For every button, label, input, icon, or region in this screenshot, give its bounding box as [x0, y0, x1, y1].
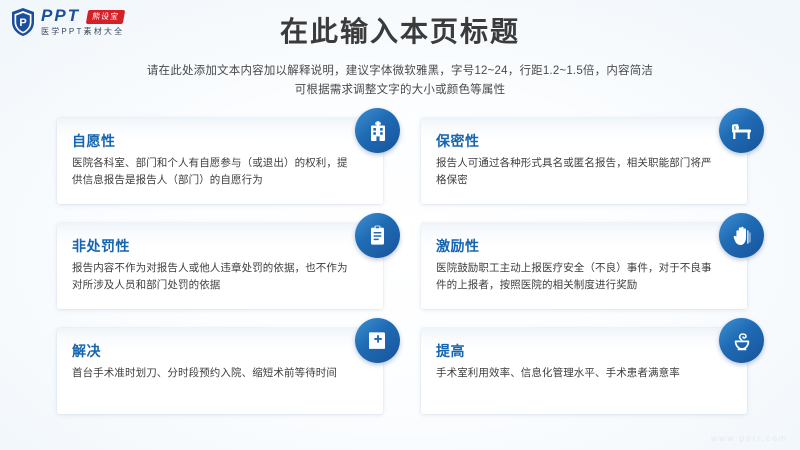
hospital-bed-icon — [719, 108, 764, 153]
feature-card[interactable]: 保密性 报告人可通过各种形式具名或匿名报告，相关职能部门将严格保密 — [421, 118, 747, 204]
feature-card[interactable]: 解决 首台手术准时划刀、分时段预约入院、缩短术前等待时间 — [57, 328, 383, 414]
card-body: 报告人可通过各种形式具名或匿名报告，相关职能部门将严格保密 — [436, 155, 722, 189]
card-title: 非处罚性 — [72, 237, 130, 255]
card-body: 医院鼓励职工主动上报医疗安全（不良）事件，对于不良事件的上报者，按照医院的相关制… — [436, 260, 722, 294]
card-title: 激励性 — [436, 237, 480, 255]
feature-card[interactable]: 激励性 医院鼓励职工主动上报医疗安全（不良）事件，对于不良事件的上报者，按照医院… — [421, 223, 747, 309]
card-body: 手术室利用效率、信息化管理水平、手术患者满意率 — [436, 365, 722, 382]
footer-watermark: www.pptr.com — [711, 433, 788, 443]
page-subtitle-line-1: 请在此处添加文本内容加以解释说明，建议字体微软雅黑，字号12~24，行距1.2~… — [0, 62, 800, 81]
card-body: 医院各科室、部门和个人有自愿参与（或退出）的权利，提供信息报告是报告人（部门）的… — [72, 155, 358, 189]
page-title: 在此输入本页标题 — [0, 14, 800, 50]
page-subtitle-line-2: 可根据需求调整文字的大小或颜色等属性 — [0, 81, 800, 100]
slide-canvas: P PPT 熊设宝 医学PPT素材大全 在此输入本页标题 请在此处添加文本内容加… — [0, 0, 800, 450]
raised-hand-icon — [719, 213, 764, 258]
feature-card[interactable]: 非处罚性 报告内容不作为对报告人或他人违章处罚的依据，也不作为对所涉及人员和部门… — [57, 223, 383, 309]
hospital-building-icon — [355, 108, 400, 153]
card-title: 自愿性 — [72, 132, 116, 150]
card-title: 保密性 — [436, 132, 480, 150]
feature-card[interactable]: 提高 手术室利用效率、信息化管理水平、手术患者满意率 — [421, 328, 747, 414]
card-title: 提高 — [436, 342, 465, 360]
card-body: 首台手术准时划刀、分时段预约入院、缩短术前等待时间 — [72, 365, 358, 382]
page-subtitle: 请在此处添加文本内容加以解释说明，建议字体微软雅黑，字号12~24，行距1.2~… — [0, 62, 800, 100]
card-body: 报告内容不作为对报告人或他人违章处罚的依据，也不作为对所涉及人员和部门处罚的依据 — [72, 260, 358, 294]
card-title: 解决 — [72, 342, 101, 360]
bowl-of-hygieia-icon — [719, 318, 764, 363]
card-grid: 自愿性 医院各科室、部门和个人有自愿参与（或退出）的权利，提供信息报告是报告人（… — [57, 118, 747, 423]
clipboard-icon — [355, 213, 400, 258]
medical-book-plus-icon — [355, 318, 400, 363]
feature-card[interactable]: 自愿性 医院各科室、部门和个人有自愿参与（或退出）的权利，提供信息报告是报告人（… — [57, 118, 383, 204]
